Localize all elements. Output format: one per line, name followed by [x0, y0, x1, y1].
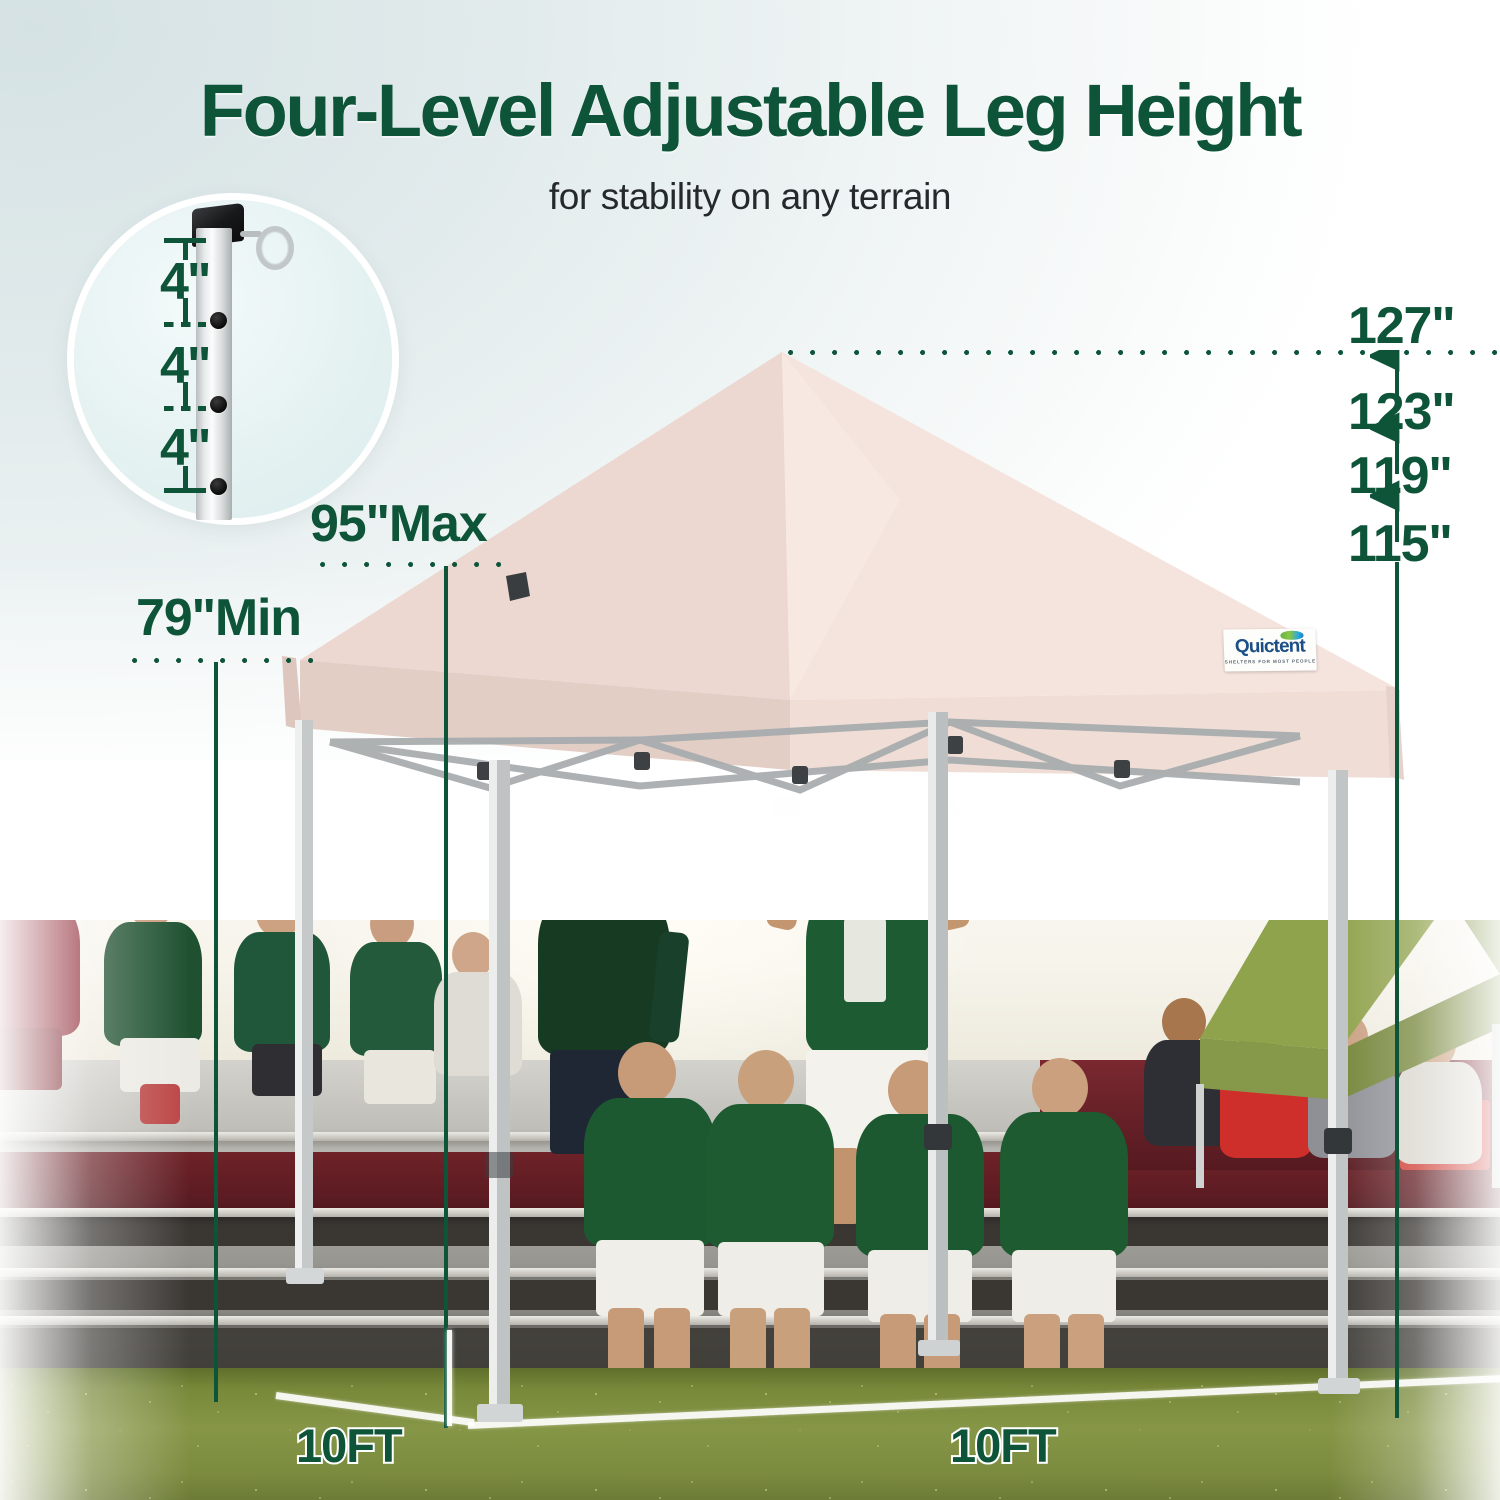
- quictent-logo-patch: Quictent SHELTERS FOR MOST PEOPLE: [1223, 628, 1317, 671]
- increment-label-1: 4": [160, 256, 210, 308]
- peak-height-127-label: 127": [1348, 300, 1455, 352]
- jersey-number: [844, 918, 886, 1002]
- page-title: Four-Level Adjustable Leg Height: [0, 74, 1500, 148]
- height-79-min-dotline: [130, 656, 316, 665]
- peak-height-guide-line: [1395, 562, 1399, 1418]
- infographic-canvas: Quictent SHELTERS FOR MOST PEOPLE Four-L…: [0, 0, 1500, 1500]
- leg-hole: [210, 396, 227, 413]
- leg-hole: [210, 312, 227, 329]
- footprint-width-right-label: 10FT: [950, 1418, 1056, 1473]
- increment-label-3: 4": [160, 422, 210, 474]
- leg-detail-circle: [74, 200, 392, 518]
- height-95-max-guide-line: [444, 566, 448, 1428]
- brand-name: Quictent: [1235, 636, 1306, 656]
- brand-tagline: SHELTERS FOR MOST PEOPLE: [1225, 658, 1316, 664]
- peak-height-arrows: [1370, 350, 1430, 580]
- pull-pin-ring-icon: [256, 226, 294, 270]
- leg-hole: [210, 478, 227, 495]
- increment-label-2: 4": [160, 340, 210, 392]
- height-79-min-guide-line: [214, 662, 218, 1402]
- height-95-max-label: 95"Max: [310, 498, 486, 550]
- height-95-max-dotline: [318, 560, 508, 569]
- brand-swoosh-icon: [1280, 630, 1303, 639]
- footprint-corner-marker: [447, 1330, 452, 1426]
- footprint-width-left-label: 10FT: [296, 1418, 402, 1473]
- height-79-min-label: 79"Min: [136, 592, 301, 644]
